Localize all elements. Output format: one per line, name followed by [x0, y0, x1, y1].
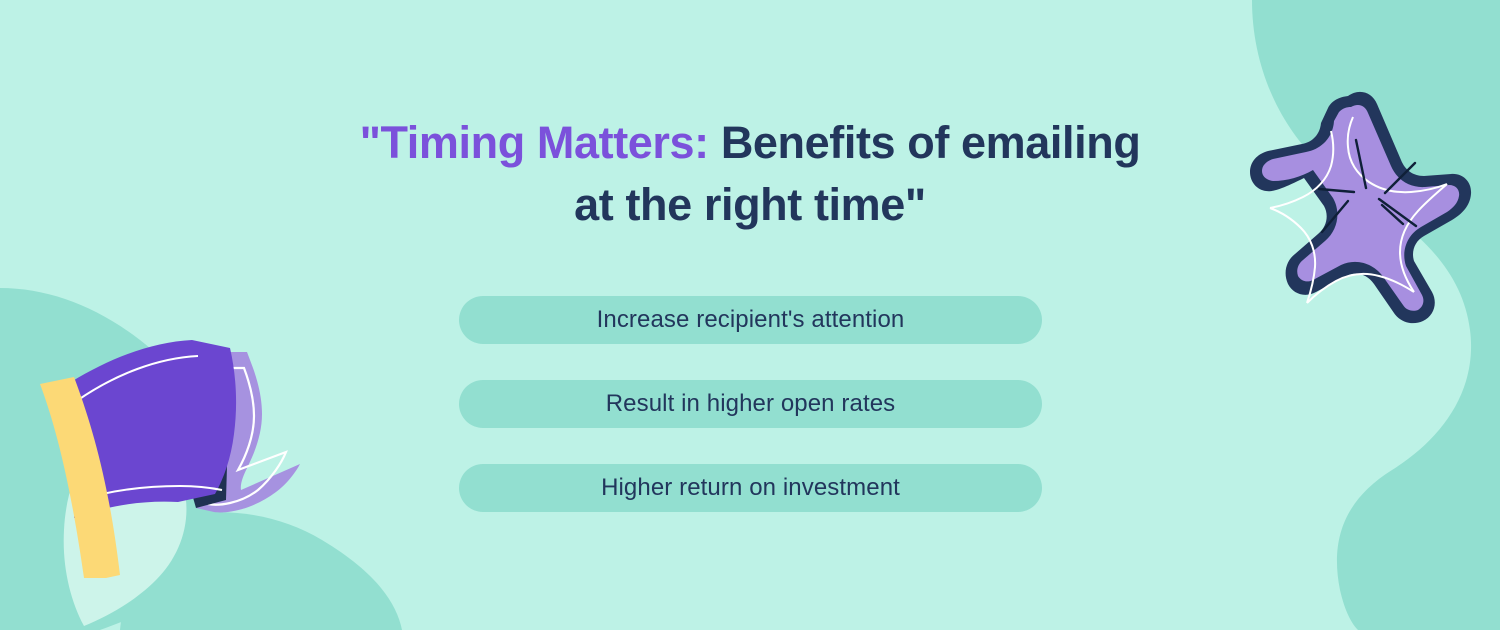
benefit-pill-1-label: Increase recipient's attention — [597, 306, 905, 334]
benefit-pill-1[interactable]: Increase recipient's attention — [459, 296, 1042, 344]
benefit-pill-2-label: Result in higher open rates — [606, 390, 896, 418]
headline-block: "Timing Matters: Benefits of emailing at… — [330, 112, 1170, 236]
content-layer: "Timing Matters: Benefits of emailing at… — [0, 0, 1500, 630]
benefit-pill-3[interactable]: Higher return on investment — [459, 464, 1042, 512]
headline-line-2: at the right time" — [330, 174, 1170, 236]
headline-accent-text: "Timing Matters: — [360, 117, 709, 168]
headline-line-1: "Timing Matters: Benefits of emailing — [330, 112, 1170, 174]
benefit-pill-2[interactable]: Result in higher open rates — [459, 380, 1042, 428]
headline-rest-text: Benefits of emailing — [709, 117, 1141, 168]
poster-canvas: "Timing Matters: Benefits of emailing at… — [0, 0, 1500, 630]
benefit-pill-3-label: Higher return on investment — [601, 474, 900, 502]
benefits-list: Increase recipient's attention Result in… — [459, 296, 1042, 512]
